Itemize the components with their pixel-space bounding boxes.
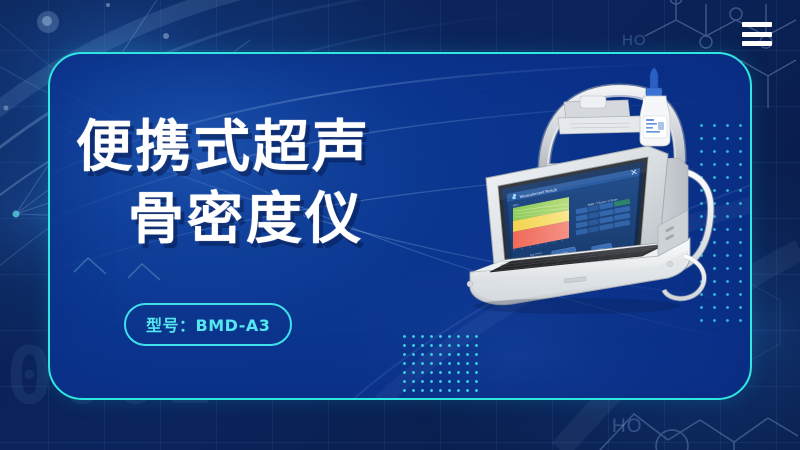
chem-label-ho-top: HO [622,32,647,49]
hamburger-menu-icon[interactable] [742,22,772,46]
menu-bar-1 [742,22,772,27]
headline-group: 便携式超声 骨密度仪 [76,112,496,255]
ultrasound-gel-bottle [640,68,670,146]
model-badge: 型号：BMD-A3 [124,303,292,346]
page-title-line-2: 骨密度仪 [76,184,496,256]
menu-bar-2 [742,32,772,37]
dot-grid-left [400,332,482,400]
banner-stage: 0001 HO HO [0,0,800,450]
menu-bar-3 [742,41,772,46]
chem-label-ho-bottom: HO [612,416,643,438]
top-vent-panel [558,116,642,134]
product-image-bone-densitometer: Measurement Result BMD [452,60,752,330]
page-title-line-1: 便携式超声 [76,112,496,184]
